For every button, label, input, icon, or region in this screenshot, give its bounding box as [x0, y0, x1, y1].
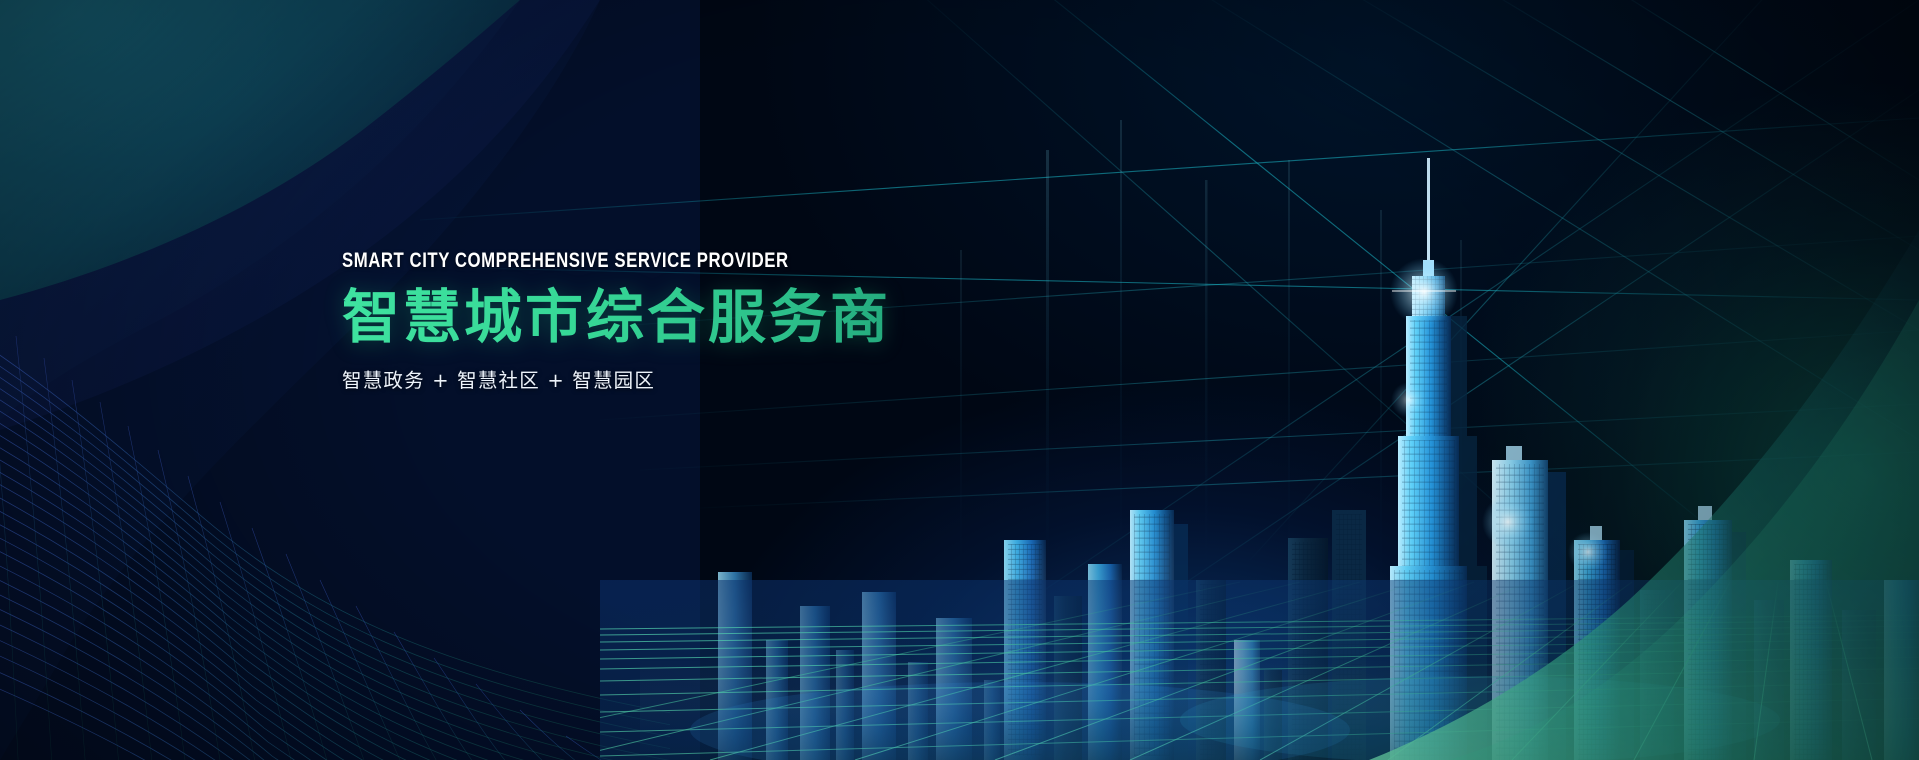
banner-copy: SMART CITY COMPREHENSIVE SERVICE PROVIDE… [342, 250, 1102, 393]
banner-eyebrow: SMART CITY COMPREHENSIVE SERVICE PROVIDE… [342, 250, 935, 272]
banner-subtitle: 智慧政务 + 智慧社区 + 智慧园区 [342, 364, 1102, 393]
page-title: 智慧城市综合服务商 [342, 286, 1102, 349]
smart-city-banner: SMART CITY COMPREHENSIVE SERVICE PROVIDE… [0, 0, 1919, 760]
